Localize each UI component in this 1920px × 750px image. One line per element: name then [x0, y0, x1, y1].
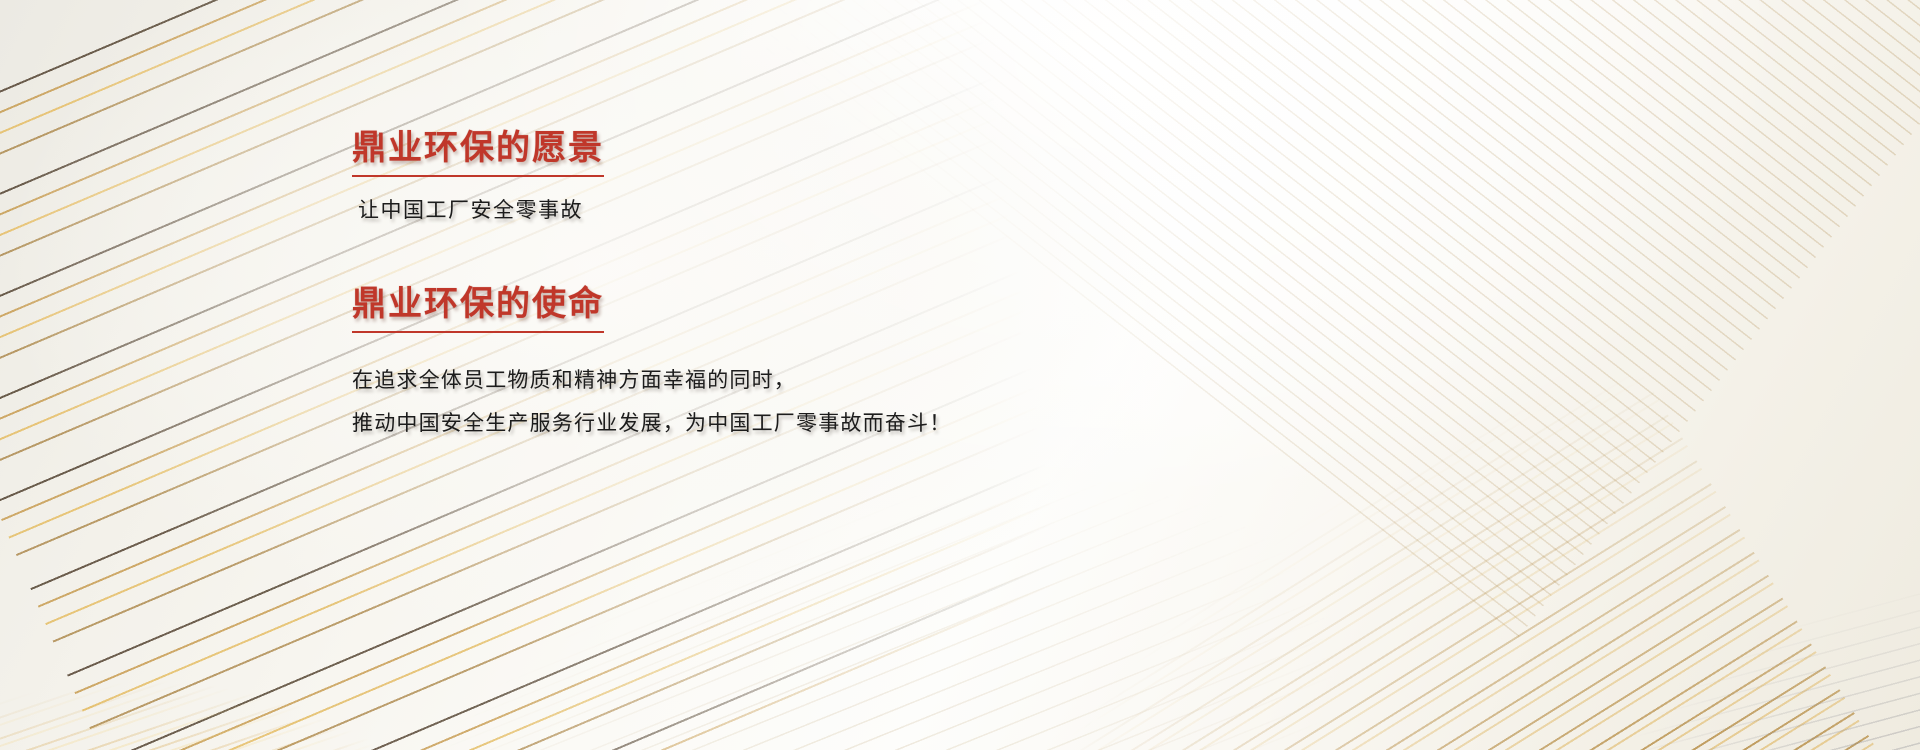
mission-block: 鼎业环保的使命 在追求全体员工物质和精神方面幸福的同时， 推动中国安全生产服务行…	[352, 284, 1252, 445]
mission-heading: 鼎业环保的使命	[352, 284, 604, 333]
text-content-area: 鼎业环保的愿景 让中国工厂安全零事故 鼎业环保的使命 在追求全体员工物质和精神方…	[352, 128, 1252, 445]
vision-mission-banner: 鼎业环保的愿景 让中国工厂安全零事故 鼎业环保的使命 在追求全体员工物质和精神方…	[0, 0, 1920, 750]
vision-heading: 鼎业环保的愿景	[352, 128, 604, 177]
vision-block: 鼎业环保的愿景 让中国工厂安全零事故	[352, 128, 1252, 224]
mission-body-line-2: 推动中国安全生产服务行业发展，为中国工厂零事故而奋斗！	[352, 402, 1252, 445]
mission-body-line-1: 在追求全体员工物质和精神方面幸福的同时，	[352, 359, 1252, 402]
vision-subtitle: 让中国工厂安全零事故	[358, 194, 1252, 224]
mission-body: 在追求全体员工物质和精神方面幸福的同时， 推动中国安全生产服务行业发展，为中国工…	[352, 359, 1252, 445]
